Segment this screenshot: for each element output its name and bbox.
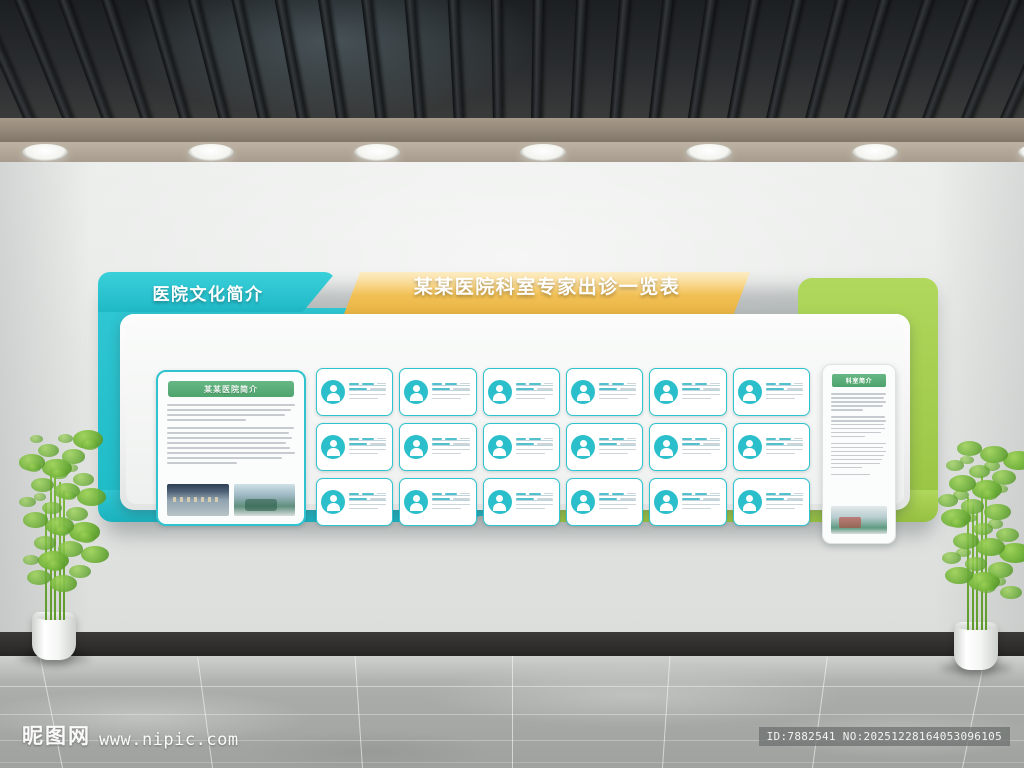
expert-card-fields	[516, 493, 555, 512]
expert-field-value	[460, 438, 469, 440]
ceiling-slat	[569, 0, 589, 122]
expert-field-value	[794, 438, 803, 440]
hospital-intro-text	[158, 404, 304, 470]
expert-card[interactable]	[733, 368, 810, 416]
expert-field-value	[682, 394, 719, 396]
expert-card-fields	[349, 493, 388, 512]
intro-paragraph-gap	[167, 467, 295, 470]
expert-field-label	[599, 443, 617, 445]
expert-field-label	[349, 388, 367, 390]
expert-field-row	[432, 493, 469, 496]
bamboo-leaf-cluster	[34, 536, 56, 550]
intro-text-line	[167, 442, 286, 444]
expert-field-label	[445, 438, 457, 440]
bamboo-leaf-cluster	[973, 523, 993, 535]
bamboo-leaf-cluster	[42, 502, 62, 514]
bamboo-plant-left	[6, 420, 102, 660]
bamboo-leaf-cluster	[34, 493, 46, 501]
expert-field-value	[766, 394, 803, 396]
dept-text-line	[831, 424, 884, 426]
expert-field-row	[766, 498, 803, 501]
dept-text-line	[831, 432, 881, 434]
expert-card-fields	[599, 438, 638, 457]
recessed-downlight	[1018, 144, 1024, 161]
bamboo-leaf-cluster	[54, 526, 70, 536]
bamboo-leaf-cluster	[66, 507, 89, 521]
expert-field-label	[445, 493, 457, 495]
expert-field-label	[349, 493, 359, 495]
intro-text-line	[167, 457, 282, 459]
expert-field-value	[787, 443, 803, 445]
expert-field-row	[516, 383, 553, 386]
expert-field-value	[620, 498, 636, 500]
expert-field-row	[599, 388, 636, 391]
expert-field-row	[766, 443, 803, 446]
expert-field-label	[432, 383, 442, 385]
expert-field-value	[537, 443, 553, 445]
ceiling-slat	[720, 0, 765, 122]
bamboo-leaf-cluster	[19, 497, 36, 507]
bamboo-leaf-cluster	[58, 434, 73, 443]
dept-text-line	[831, 455, 884, 457]
expert-field-row	[349, 493, 386, 496]
expert-field-value	[599, 504, 636, 506]
center-title-text: 某某医院科室专家出诊一览表	[344, 272, 750, 299]
expert-card-fields	[766, 438, 805, 457]
expert-card[interactable]	[483, 478, 560, 526]
bamboo-leaf-cluster	[50, 575, 77, 592]
bamboo-leaf-cluster	[988, 562, 1013, 578]
expert-card-fields	[766, 493, 805, 512]
floor-gloss	[0, 656, 1024, 682]
expert-field-row	[516, 388, 553, 391]
left-title-text: 医院文化简介	[98, 272, 336, 312]
expert-field-label	[432, 443, 450, 445]
department-room-photo	[831, 506, 887, 534]
expert-field-label	[432, 438, 442, 440]
expert-card-fields	[432, 493, 471, 512]
bamboo-leaf-cluster	[27, 463, 41, 472]
expert-field-label	[612, 493, 624, 495]
expert-field-row	[599, 438, 636, 441]
expert-field-value	[620, 443, 636, 445]
expert-field-value	[766, 398, 795, 400]
expert-field-row	[682, 383, 719, 386]
expert-field-label	[612, 438, 624, 440]
bamboo-leaf-cluster	[81, 439, 99, 450]
expert-field-value	[370, 498, 386, 500]
expert-field-label	[529, 438, 541, 440]
intro-text-line	[167, 437, 292, 439]
expert-field-row	[349, 383, 386, 386]
dept-text-line	[831, 459, 882, 461]
expert-field-row	[516, 438, 553, 441]
expert-field-label	[516, 388, 534, 390]
expert-field-label	[766, 438, 776, 440]
bamboo-leaf-cluster	[81, 546, 109, 563]
expert-field-value	[432, 394, 469, 396]
doctor-avatar-icon	[738, 380, 762, 404]
expert-field-value	[432, 453, 461, 455]
expert-field-value	[349, 508, 378, 510]
expert-field-value	[349, 449, 386, 451]
expert-card[interactable]	[483, 423, 560, 471]
expert-card-fields	[432, 438, 471, 457]
site-watermark: 昵图网 www.nipic.com	[22, 720, 239, 750]
bamboo-stem	[54, 474, 56, 620]
department-intro-card[interactable]: 科室简介	[822, 364, 896, 544]
expert-card-fields	[682, 438, 721, 457]
expert-card[interactable]	[316, 423, 393, 471]
expert-field-label	[516, 498, 534, 500]
bamboo-leaf-cluster	[58, 541, 83, 557]
doctor-avatar-icon	[488, 380, 512, 404]
bamboo-leaf-cluster	[977, 581, 996, 593]
ceiling-slat	[490, 0, 503, 122]
expert-field-label	[695, 493, 707, 495]
bamboo-leaf-cluster	[980, 446, 1008, 463]
ceiling-slat	[531, 0, 544, 122]
expert-field-value	[432, 504, 469, 506]
bamboo-leaf-cluster	[996, 528, 1019, 542]
expert-card[interactable]	[649, 368, 726, 416]
intro-text-line	[167, 414, 285, 416]
expert-field-value	[432, 508, 461, 510]
expert-card[interactable]	[399, 368, 476, 416]
expert-field-value	[682, 449, 719, 451]
bamboo-plant-right	[928, 430, 1024, 670]
hospital-intro-header: 某某医院简介	[168, 381, 294, 397]
expert-field-label	[695, 438, 707, 440]
expert-field-label	[682, 493, 692, 495]
expert-field-label	[695, 383, 707, 385]
left-title-tab[interactable]: 医院文化简介	[98, 272, 336, 312]
expert-field-value	[349, 398, 378, 400]
bamboo-leaf-cluster	[62, 492, 76, 500]
scene-root: 医院文化简介 某某医院科室专家出诊一览表 某某医院简介	[0, 0, 1024, 768]
expert-field-value	[453, 388, 469, 390]
bamboo-leaf-cluster	[50, 468, 67, 479]
expert-field-value	[599, 508, 628, 510]
expert-field-label	[529, 493, 541, 495]
expert-field-value	[453, 443, 469, 445]
doctor-avatar-icon	[738, 435, 762, 459]
expert-card[interactable]	[733, 478, 810, 526]
expert-field-value	[516, 394, 553, 396]
expert-field-value	[349, 394, 386, 396]
ceiling-slat	[606, 0, 632, 122]
expert-field-label	[599, 498, 617, 500]
medical-staff-photo	[234, 484, 296, 516]
doctor-avatar-icon	[654, 380, 678, 404]
expert-card[interactable]	[566, 478, 643, 526]
expert-field-label	[599, 493, 609, 495]
department-intro-header-label: 科室简介	[846, 376, 872, 385]
bamboo-leaf-cluster	[23, 512, 49, 528]
recessed-downlight	[354, 144, 400, 161]
intro-text-line	[167, 427, 294, 429]
bamboo-leaf-cluster	[69, 565, 90, 578]
expert-field-label	[599, 438, 609, 440]
expert-field-value	[349, 453, 378, 455]
expert-field-label	[779, 438, 791, 440]
expert-field-label	[349, 438, 359, 440]
department-intro-text	[823, 393, 895, 475]
expert-field-value	[710, 383, 719, 385]
expert-field-label	[432, 388, 450, 390]
expert-field-value	[599, 394, 636, 396]
intro-text-line	[167, 432, 289, 434]
intro-text-line	[167, 419, 246, 421]
expert-field-label	[766, 493, 776, 495]
bamboo-leaf-cluster	[62, 449, 86, 464]
dept-text-line	[831, 416, 885, 418]
dept-text-line	[831, 443, 886, 445]
bamboo-leaf-cluster	[953, 533, 979, 549]
doctor-avatar-icon	[488, 490, 512, 514]
expert-field-value	[432, 398, 461, 400]
expert-field-row	[682, 443, 719, 446]
expert-field-row	[766, 438, 803, 441]
expert-field-row	[432, 443, 469, 446]
expert-field-value	[682, 453, 711, 455]
expert-card-fields	[432, 383, 471, 402]
expert-field-value	[627, 383, 636, 385]
expert-field-value	[620, 388, 636, 390]
expert-field-label	[362, 493, 374, 495]
hospital-intro-card[interactable]: 某某医院简介	[156, 370, 306, 526]
center-title-banner[interactable]: 某某医院科室专家出诊一览表	[344, 272, 750, 314]
expert-field-value	[794, 383, 803, 385]
bamboo-leaf-cluster	[946, 460, 964, 471]
bamboo-leaf-cluster	[77, 488, 106, 506]
dept-text-line	[831, 420, 886, 422]
expert-field-value	[516, 398, 545, 400]
expert-field-row	[432, 388, 469, 391]
expert-field-value	[516, 504, 553, 506]
ceiling-slat-panel	[0, 0, 1024, 122]
department-intro-header: 科室简介	[832, 374, 886, 387]
bamboo-leaf-cluster	[949, 475, 976, 492]
expert-field-row	[599, 443, 636, 446]
expert-field-value	[432, 449, 469, 451]
recessed-downlight	[22, 144, 68, 161]
expert-field-row	[599, 383, 636, 386]
expert-field-value	[544, 438, 553, 440]
expert-field-value	[537, 498, 553, 500]
expert-field-row	[766, 383, 803, 386]
expert-card[interactable]	[649, 478, 726, 526]
doctor-avatar-icon	[404, 490, 428, 514]
expert-field-value	[349, 504, 386, 506]
expert-card[interactable]	[399, 478, 476, 526]
expert-card-fields	[766, 383, 805, 402]
dept-text-line	[831, 397, 884, 399]
dept-text-line	[831, 436, 865, 438]
expert-field-row	[349, 498, 386, 501]
bamboo-leaf-cluster	[27, 570, 51, 585]
expert-field-value	[599, 398, 628, 400]
dept-text-line	[831, 451, 886, 453]
expert-field-value	[766, 508, 795, 510]
bamboo-leaf-cluster	[23, 555, 38, 565]
expert-field-row	[349, 388, 386, 391]
expert-card[interactable]	[316, 368, 393, 416]
expert-field-row	[516, 493, 553, 496]
expert-card[interactable]	[566, 368, 643, 416]
watermark-site-url: www.nipic.com	[99, 730, 239, 750]
dept-text-line	[831, 393, 886, 395]
expert-field-label	[349, 443, 367, 445]
expert-field-row	[682, 438, 719, 441]
bamboo-leaf-cluster	[77, 531, 96, 543]
expert-field-label	[766, 383, 776, 385]
bamboo-leaf-cluster	[38, 444, 59, 457]
bamboo-leaf-cluster	[984, 504, 1010, 520]
bamboo-leaf-cluster	[961, 499, 984, 514]
doctor-avatar-icon	[321, 380, 345, 404]
expert-field-row	[766, 493, 803, 496]
dept-text-line	[831, 428, 885, 430]
expert-field-row	[432, 438, 469, 441]
hospital-intro-photos	[167, 484, 295, 516]
expert-field-label	[362, 438, 374, 440]
intro-text-line	[167, 452, 295, 454]
expert-field-value	[766, 453, 795, 455]
bamboo-leaf-cluster	[965, 557, 987, 571]
watermark-site-name: 昵图网	[22, 720, 91, 750]
ceiling-slat	[758, 0, 809, 122]
expert-field-label	[766, 498, 784, 500]
intro-text-line	[167, 462, 237, 464]
expert-field-row	[766, 388, 803, 391]
expert-field-row	[432, 498, 469, 501]
expert-field-value	[516, 508, 545, 510]
expert-field-row	[599, 498, 636, 501]
doctor-avatar-icon	[404, 435, 428, 459]
expert-field-label	[779, 383, 791, 385]
expert-field-value	[377, 438, 386, 440]
expert-card-fields	[349, 383, 388, 402]
expert-field-label	[682, 388, 700, 390]
expert-field-label	[516, 493, 526, 495]
recessed-downlight	[188, 144, 234, 161]
expert-field-label	[445, 383, 457, 385]
image-id-badge: ID:7882541 NO:20251228164053096105	[759, 727, 1010, 746]
doctor-avatar-icon	[738, 490, 762, 514]
expert-field-label	[349, 383, 359, 385]
expert-field-value	[682, 504, 719, 506]
expert-field-value	[377, 493, 386, 495]
expert-field-value	[766, 504, 803, 506]
dept-text-line	[831, 409, 863, 411]
expert-field-label	[516, 383, 526, 385]
expert-card[interactable]	[316, 478, 393, 526]
wall-baseboard	[0, 632, 1024, 658]
bamboo-leaf-cluster	[969, 465, 990, 478]
expert-card-fields	[599, 493, 638, 512]
expert-field-row	[349, 438, 386, 441]
expert-field-value	[787, 388, 803, 390]
bamboo-leaf-cluster	[938, 494, 958, 507]
dept-text-line	[831, 447, 883, 449]
expert-field-value	[460, 493, 469, 495]
expert-field-row	[349, 443, 386, 446]
expert-schedule-grid	[316, 368, 810, 526]
expert-field-label	[682, 498, 700, 500]
expert-field-value	[377, 383, 386, 385]
expert-field-value	[544, 383, 553, 385]
expert-card[interactable]	[649, 423, 726, 471]
expert-field-row	[682, 388, 719, 391]
expert-field-value	[460, 383, 469, 385]
expert-field-value	[453, 498, 469, 500]
bamboo-leaf-cluster	[1000, 586, 1022, 599]
expert-field-label	[612, 383, 624, 385]
intro-text-line	[167, 404, 295, 406]
expert-field-value	[703, 388, 719, 390]
bamboo-leaf-cluster	[942, 552, 961, 564]
doctor-avatar-icon	[321, 435, 345, 459]
doctor-avatar-icon	[488, 435, 512, 459]
expert-field-label	[516, 443, 534, 445]
expert-field-label	[599, 388, 617, 390]
expert-field-row	[682, 498, 719, 501]
expert-field-value	[766, 449, 803, 451]
ceiling-slat	[682, 0, 720, 122]
intro-text-line	[167, 447, 290, 449]
expert-card[interactable]	[399, 423, 476, 471]
expert-card-fields	[516, 438, 555, 457]
expert-field-row	[516, 443, 553, 446]
expert-card-fields	[516, 383, 555, 402]
expert-field-value	[516, 449, 553, 451]
bamboo-leaf-cluster	[30, 435, 43, 443]
dept-text-line	[831, 405, 883, 407]
expert-field-label	[682, 383, 692, 385]
recessed-downlight	[520, 144, 566, 161]
expert-field-value	[682, 508, 711, 510]
expert-field-value	[703, 443, 719, 445]
expert-field-value	[627, 438, 636, 440]
expert-field-label	[682, 438, 692, 440]
expert-field-value	[370, 443, 386, 445]
expert-card[interactable]	[566, 423, 643, 471]
expert-field-value	[370, 388, 386, 390]
expert-field-label	[349, 498, 367, 500]
expert-field-value	[710, 493, 719, 495]
expert-field-value	[787, 498, 803, 500]
expert-card-fields	[349, 438, 388, 457]
expert-field-value	[516, 453, 545, 455]
expert-field-row	[432, 383, 469, 386]
expert-field-label	[599, 383, 609, 385]
bamboo-leaf-cluster	[957, 441, 982, 456]
doctor-avatar-icon	[571, 490, 595, 514]
expert-card-fields	[599, 383, 638, 402]
expert-field-label	[432, 498, 450, 500]
bamboo-leaf-cluster	[992, 470, 1016, 485]
doctor-avatar-icon	[654, 435, 678, 459]
dept-text-line	[831, 401, 886, 403]
expert-card[interactable]	[483, 368, 560, 416]
expert-field-row	[682, 493, 719, 496]
doctor-avatar-icon	[321, 490, 345, 514]
expert-field-label	[529, 383, 541, 385]
recessed-downlight	[686, 144, 732, 161]
expert-card[interactable]	[733, 423, 810, 471]
expert-field-value	[627, 493, 636, 495]
